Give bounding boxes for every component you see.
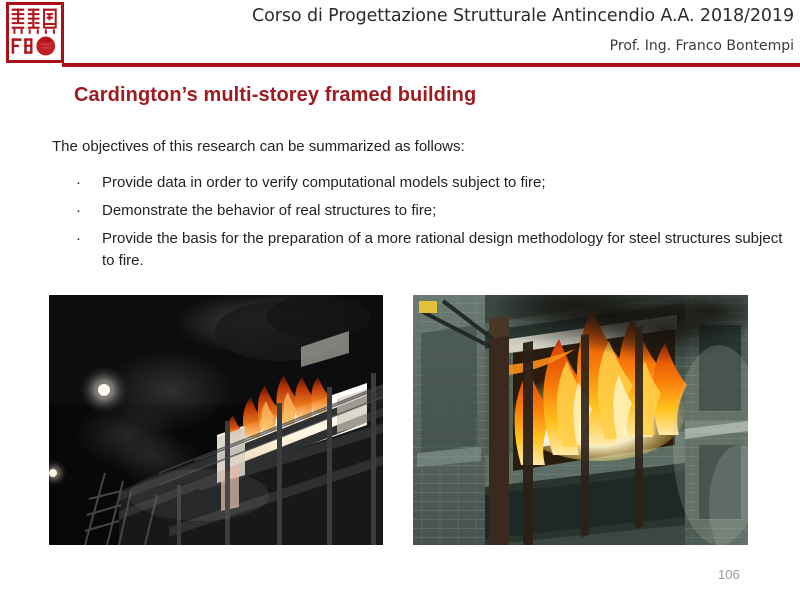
- list-item-label: Demonstrate the behavior of real structu…: [102, 200, 784, 222]
- list-item: · Provide the basis for the preparation …: [72, 228, 784, 272]
- page-number: 106: [718, 567, 740, 582]
- bullet-marker-icon: ·: [72, 172, 102, 194]
- cardington-fire-test-daylight-photo: [413, 295, 748, 545]
- cardington-fire-test-night-photo: [49, 295, 383, 545]
- slide-canvas: Corso di Progettazione Strutturale Antin…: [0, 0, 800, 600]
- list-item: · Demonstrate the behavior of real struc…: [72, 200, 784, 222]
- objectives-list: · Provide data in order to verify comput…: [72, 172, 784, 278]
- franco-bontempi-seal-logo-icon: [6, 2, 64, 63]
- list-item: · Provide data in order to verify comput…: [72, 172, 784, 194]
- course-title: Corso di Progettazione Strutturale Antin…: [252, 6, 794, 26]
- header-divider: [62, 63, 800, 67]
- list-item-label: Provide the basis for the preparation of…: [102, 228, 784, 272]
- slide-header: Corso di Progettazione Strutturale Antin…: [0, 0, 800, 68]
- list-item-label: Provide data in order to verify computat…: [102, 172, 784, 194]
- page-title: Cardington’s multi-storey framed buildin…: [74, 84, 476, 107]
- bullet-marker-icon: ·: [72, 228, 102, 250]
- intro-paragraph: The objectives of this research can be s…: [52, 138, 465, 155]
- course-author: Prof. Ing. Franco Bontempi: [610, 38, 794, 54]
- bullet-marker-icon: ·: [72, 200, 102, 222]
